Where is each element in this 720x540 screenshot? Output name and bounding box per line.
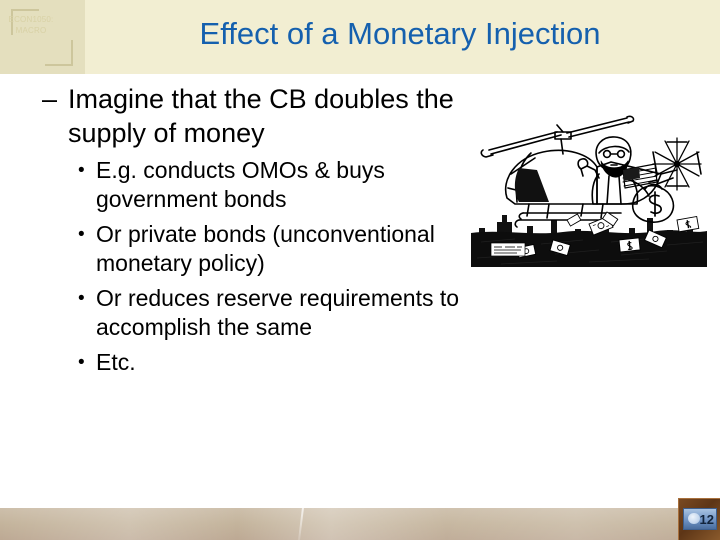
- bullet-level2-text: E.g. conducts OMOs & buys government bon…: [96, 157, 385, 212]
- bullet-level1: – Imagine that the CB doubles the supply…: [0, 82, 470, 150]
- course-logo-text: ECON1050: MACRO: [6, 14, 56, 36]
- dot-marker-icon: •: [78, 156, 85, 185]
- slide-number-panel: 12: [683, 508, 717, 530]
- helicopter-money-illustration: [471, 112, 707, 267]
- bullet-level2: • E.g. conducts OMOs & buys government b…: [0, 156, 470, 214]
- bullet-level2-text: Or reduces reserve requirements to accom…: [96, 285, 459, 340]
- logo-corner-bottom-right: [45, 40, 73, 66]
- dot-marker-icon: •: [78, 348, 85, 377]
- dot-marker-icon: •: [78, 220, 85, 249]
- bullet-level1-text: Imagine that the CB doubles the supply o…: [68, 84, 454, 148]
- slide-number-bullet-icon: [688, 513, 700, 524]
- dot-marker-icon: •: [78, 284, 85, 313]
- bullet-level2: • Or reduces reserve requirements to acc…: [0, 284, 470, 342]
- helicopter-money-cartoon-image: [471, 112, 707, 267]
- bullet-level2-text: Or private bonds (unconventional monetar…: [96, 221, 435, 276]
- slide-header-band: ECON1050: MACRO Effect of a Monetary Inj…: [0, 0, 720, 74]
- dash-marker-icon: –: [42, 82, 57, 116]
- footer-texture-strip: [0, 508, 720, 540]
- slide-number-text: 12: [700, 513, 714, 526]
- slide: ECON1050: MACRO Effect of a Monetary Inj…: [0, 0, 720, 540]
- bullet-level2-text: Etc.: [96, 349, 136, 375]
- slide-title: Effect of a Monetary Injection: [100, 14, 700, 54]
- footer-seam-line: [298, 508, 304, 540]
- cartoon-signature: [491, 243, 525, 256]
- slide-body: – Imagine that the CB doubles the supply…: [0, 82, 470, 377]
- bullet-level2: • Etc.: [0, 348, 470, 377]
- course-logo-line-1: ECON1050:: [6, 14, 56, 25]
- course-logo-block: ECON1050: MACRO: [0, 0, 85, 74]
- course-logo-line-2: MACRO: [6, 25, 56, 36]
- slide-number-badge: 12: [678, 498, 720, 540]
- bullet-level2: • Or private bonds (unconventional monet…: [0, 220, 470, 278]
